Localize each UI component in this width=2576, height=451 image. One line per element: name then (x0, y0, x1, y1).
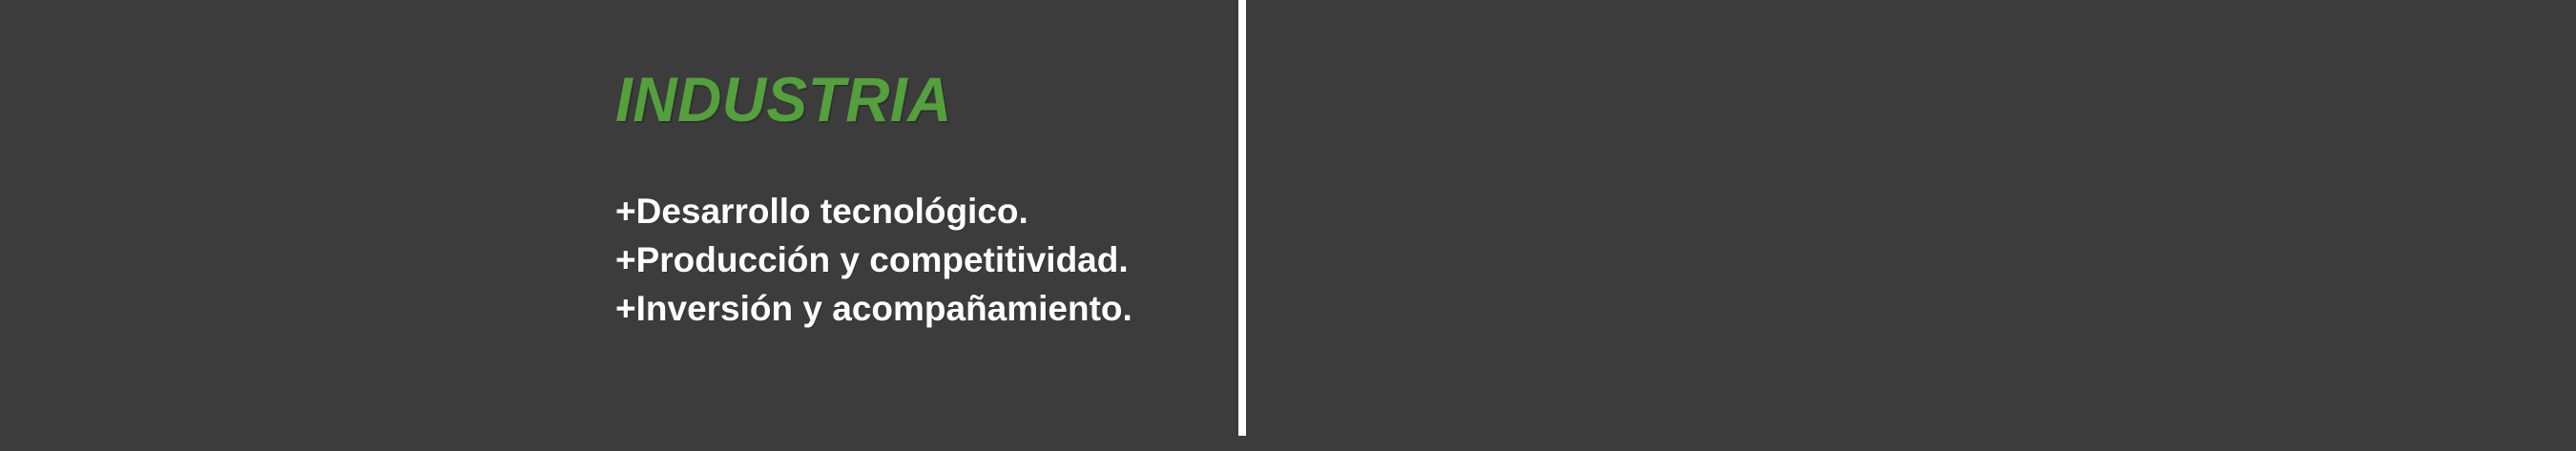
list-item: +Producción y competitividad. (615, 236, 1132, 284)
left-panel: INDUSTRIA +Desarrollo tecnológico. +Prod… (0, 0, 1238, 451)
right-panel: CUIDAMOS TU BOLSILLO +Programas de descu… (1246, 0, 2576, 451)
vertical-divider (1238, 0, 1246, 436)
left-panel-bullet-list: +Desarrollo tecnológico. +Producción y c… (615, 187, 1132, 333)
list-item: +Desarrollo tecnológico. (615, 187, 1132, 236)
list-item: +Inversión y acompañamiento. (615, 284, 1132, 333)
promo-banner: INDUSTRIA +Desarrollo tecnológico. +Prod… (0, 0, 2576, 451)
left-panel-heading: INDUSTRIA (615, 63, 952, 135)
